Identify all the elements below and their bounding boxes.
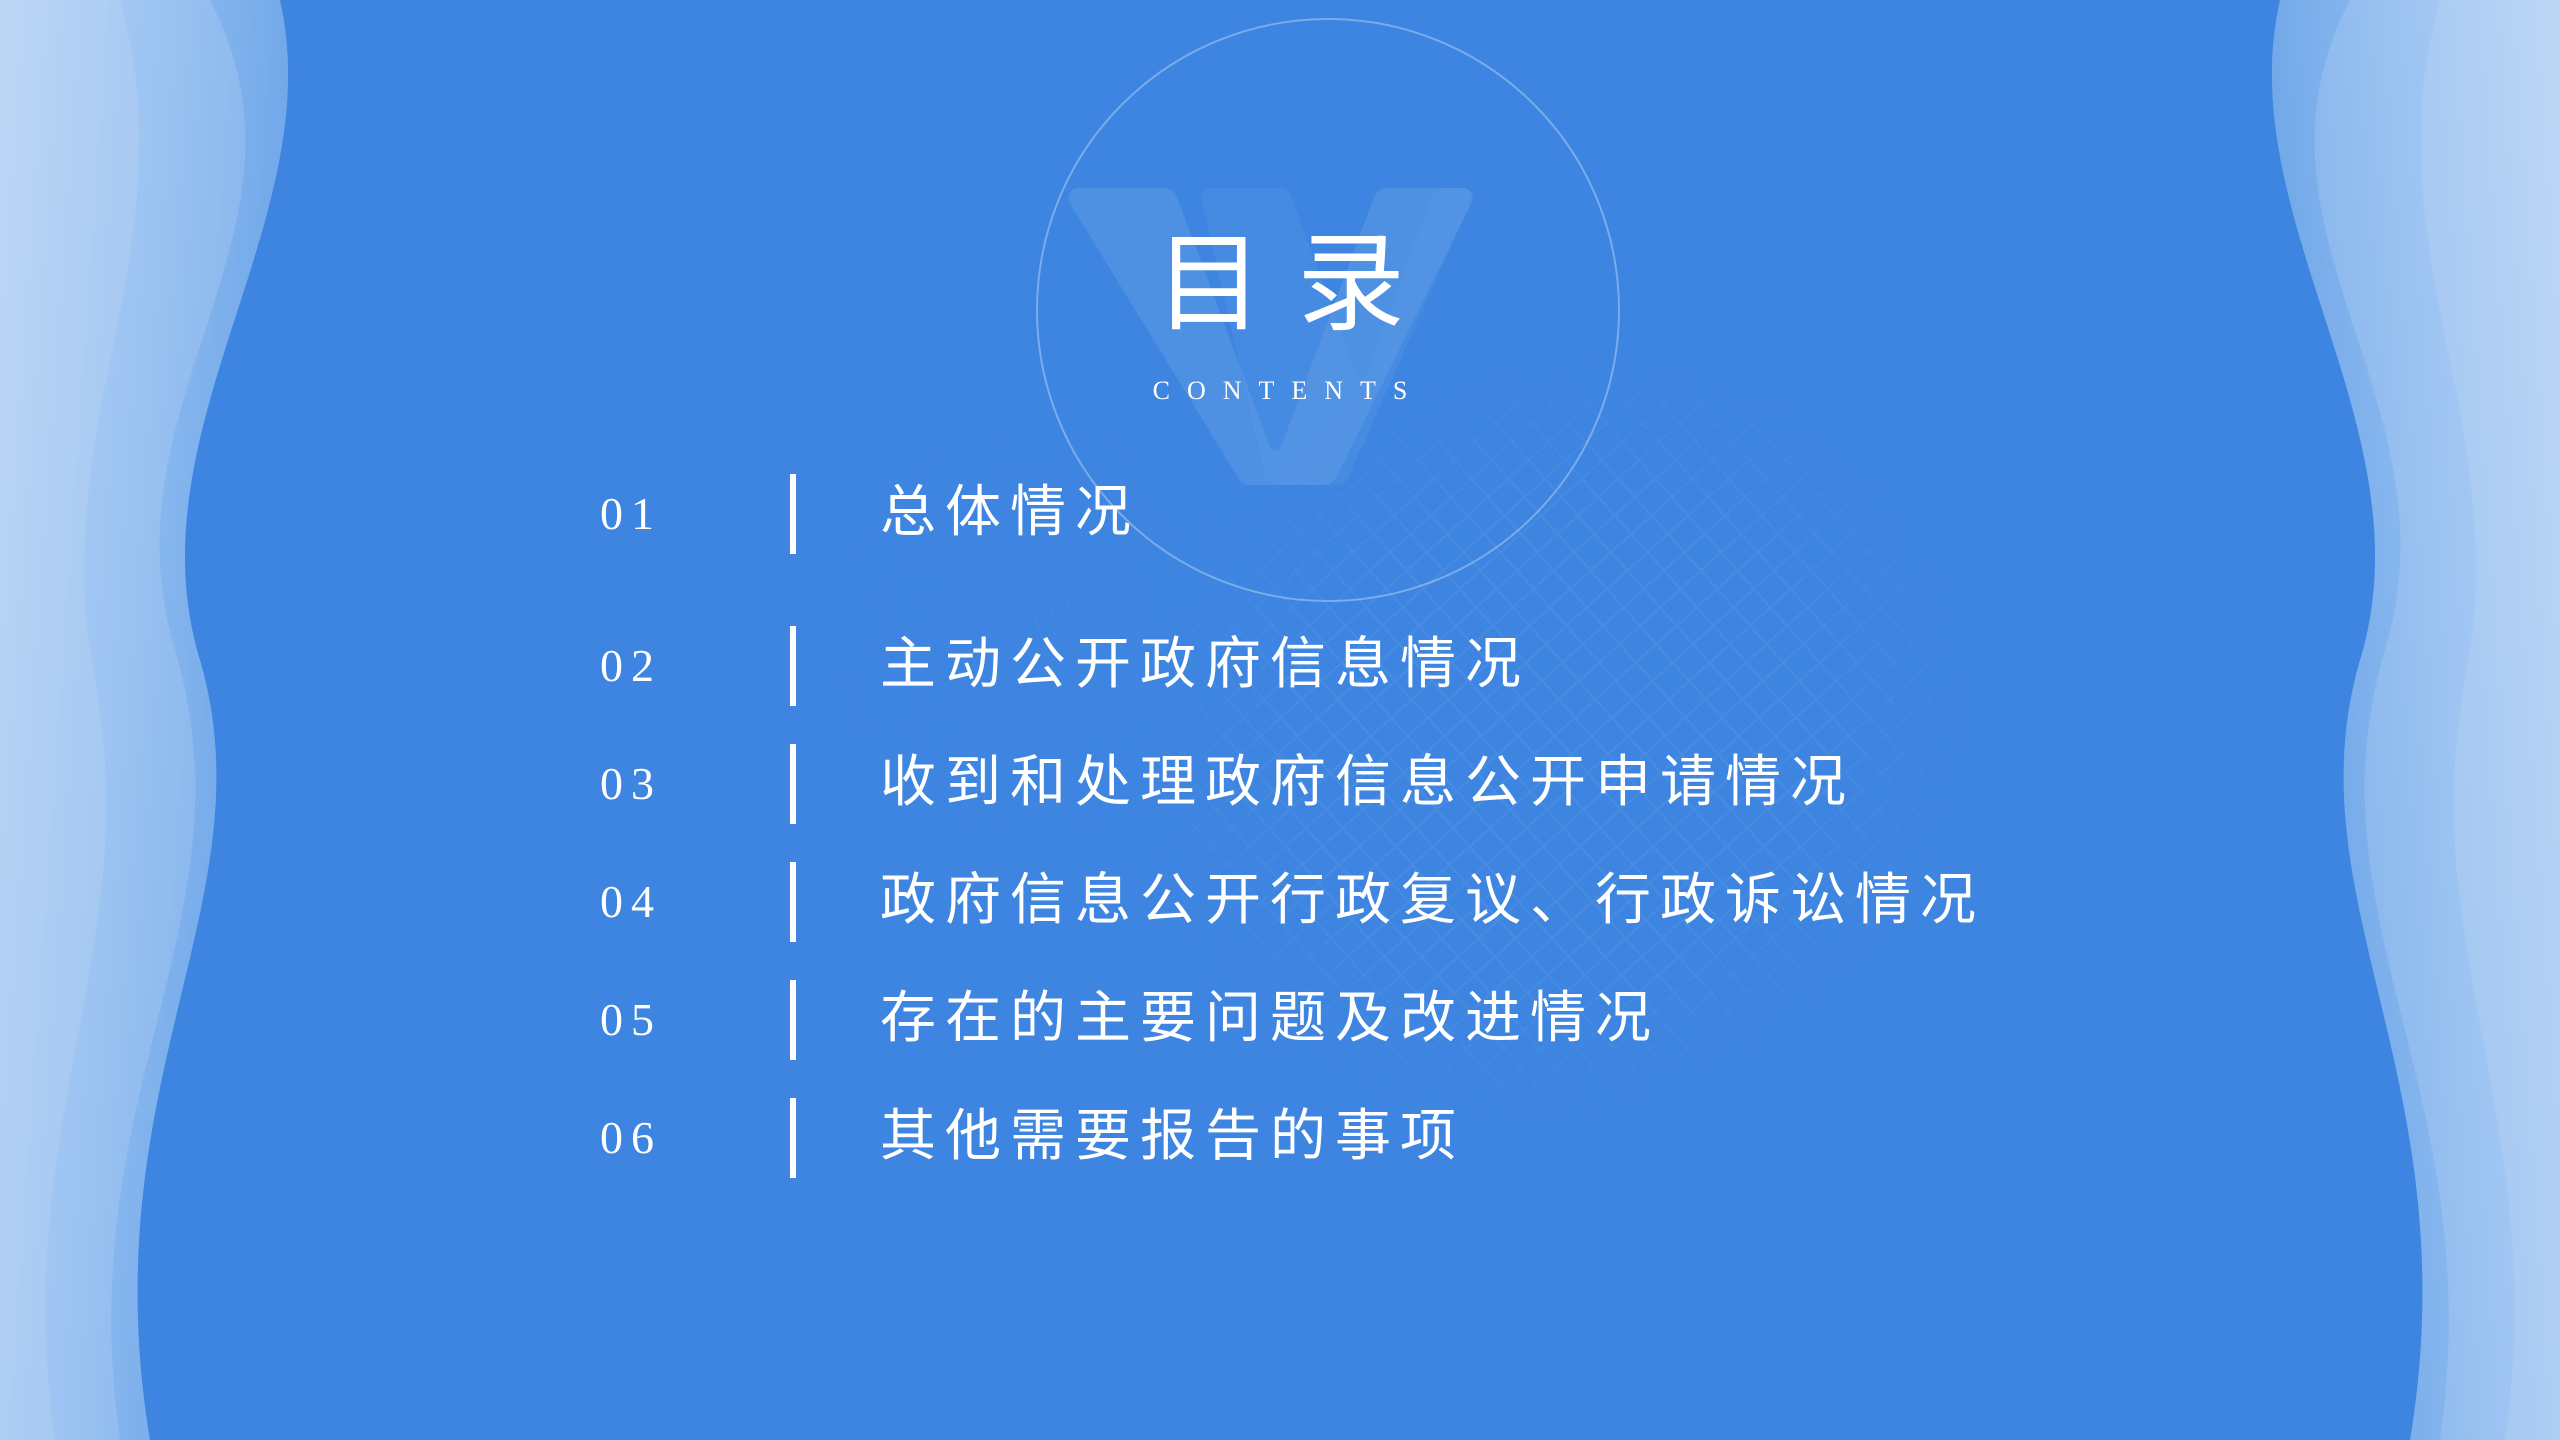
toc-label: 总体情况: [880, 483, 1140, 545]
toc-item-06[interactable]: 06 其他需要报告的事项: [0, 1079, 2560, 1197]
table-of-contents: 01 总体情况 02 主动公开政府信息情况 03 收到和处理政府信息公开申请情况…: [0, 455, 2560, 1197]
toc-divider-bar: [790, 862, 796, 942]
toc-number: 03: [600, 761, 790, 807]
toc-label: 存在的主要问题及改进情况: [880, 989, 1660, 1051]
toc-number: 02: [600, 643, 790, 689]
toc-item-03[interactable]: 03 收到和处理政府信息公开申请情况: [0, 725, 2560, 843]
toc-item-04[interactable]: 04 政府信息公开行政复议、行政诉讼情况: [0, 843, 2560, 961]
toc-label: 收到和处理政府信息公开申请情况: [880, 753, 1855, 815]
toc-divider-bar: [790, 474, 796, 554]
toc-number: 06: [600, 1115, 790, 1161]
toc-label: 主动公开政府信息情况: [880, 635, 1530, 697]
toc-divider-bar: [790, 980, 796, 1060]
page-subtitle: CONTENTS: [0, 378, 2560, 404]
toc-divider-bar: [790, 1098, 796, 1178]
page-title: 目录: [0, 232, 2560, 340]
toc-number: 01: [600, 491, 790, 537]
toc-slide: 目录 CONTENTS 01 总体情况 02 主动公开政府信息情况 03 收到和…: [0, 0, 2560, 1440]
toc-divider-bar: [790, 626, 796, 706]
toc-divider-bar: [790, 744, 796, 824]
toc-number: 04: [600, 879, 790, 925]
toc-item-02[interactable]: 02 主动公开政府信息情况: [0, 607, 2560, 725]
toc-number: 05: [600, 997, 790, 1043]
toc-label: 其他需要报告的事项: [880, 1107, 1465, 1169]
toc-item-05[interactable]: 05 存在的主要问题及改进情况: [0, 961, 2560, 1079]
toc-item-01[interactable]: 01 总体情况: [0, 455, 2560, 573]
toc-label: 政府信息公开行政复议、行政诉讼情况: [880, 871, 1985, 933]
